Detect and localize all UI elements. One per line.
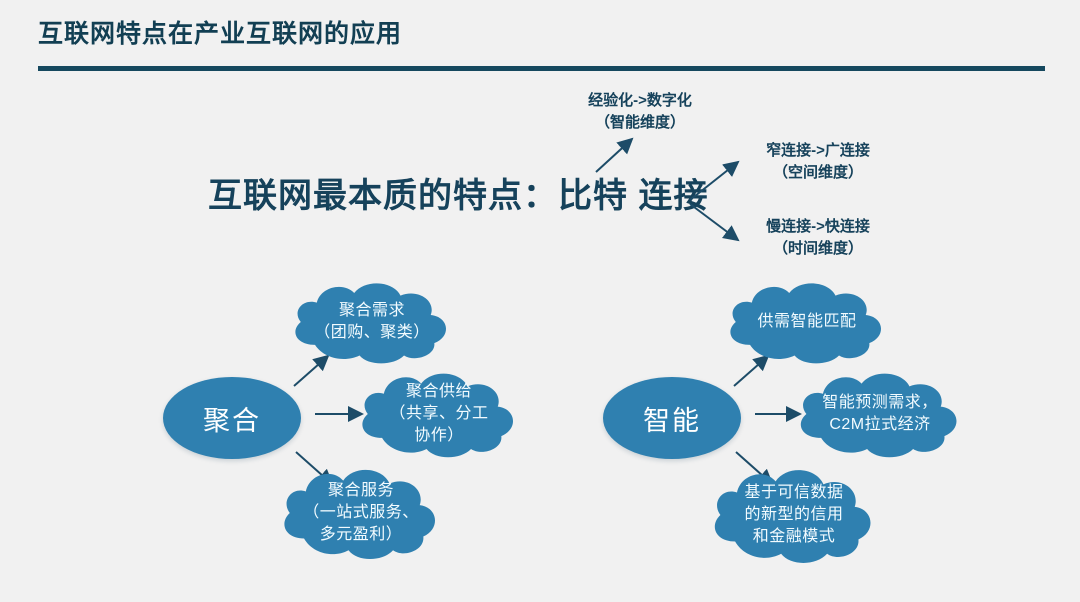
title-divider [38,66,1045,71]
annotation-intelligence-line2: （智能维度） [540,112,740,134]
cloud-line: 的新型的信用 [744,504,843,526]
annotation-time-dimension: 慢连接->快连接 （时间维度） [718,216,918,260]
cloud-line: 聚合服务 [328,480,394,502]
cloud-line: （团购、聚类） [314,322,430,344]
annotation-intelligence-line1: 经验化->数字化 [540,90,740,112]
hub-node-intelligent[interactable]: 智能 [603,377,741,459]
cloud-line: 供需智能匹配 [757,311,856,333]
cloud-line: 和金融模式 [753,526,836,548]
cloud-intelligent-matching-label: 供需智能匹配 [718,278,896,366]
cloud-intelligent-credit[interactable]: 基于可信数据 的新型的信用 和金融模式 [702,464,886,566]
cloud-line: 聚合需求 [339,300,405,322]
headline-text: 互联网最本质的特点：比特 连接 [208,168,708,217]
cloud-intelligent-forecast[interactable]: 智能预测需求， C2M拉式经济 [788,368,972,460]
annotation-time-line2: （时间维度） [718,238,918,260]
cloud-line: （共享、分工 [389,403,488,425]
annotation-space-dimension: 窄连接->广连接 （空间维度） [718,140,918,184]
cloud-aggregate-demand-label: 聚合需求 （团购、聚类） [283,278,461,366]
hub-node-intelligent-label: 智能 [643,399,701,438]
cloud-intelligent-forecast-label: 智能预测需求， C2M拉式经济 [788,368,972,460]
cloud-intelligent-credit-label: 基于可信数据 的新型的信用 和金融模式 [702,464,886,566]
cloud-line: 多元盈利） [320,524,403,546]
cloud-line: 聚合供给 [406,381,472,403]
cloud-aggregate-demand[interactable]: 聚合需求 （团购、聚类） [283,278,461,366]
cloud-line: C2M拉式经济 [829,414,930,436]
cloud-aggregate-service[interactable]: 聚合服务 （一站式服务、 多元盈利） [272,464,450,562]
annotation-space-line1: 窄连接->广连接 [718,140,918,162]
cloud-aggregate-supply-label: 聚合供给 （共享、分工 协作） [350,368,528,460]
slide-canvas: 互联网特点在产业互联网的应用 互联网最本质的特点：比特 连接 经验化->数字化 … [0,0,1080,602]
cloud-line: 智能预测需求， [822,392,938,414]
hub-node-aggregate-label: 聚合 [203,399,261,438]
page-title: 互联网特点在产业互联网的应用 [38,14,402,50]
annotation-intelligence-dimension: 经验化->数字化 （智能维度） [540,90,740,134]
cloud-line: 基于可信数据 [744,482,843,504]
cloud-line: 协作） [414,425,464,447]
annotation-time-line1: 慢连接->快连接 [718,216,918,238]
cloud-line: （一站式服务、 [303,502,419,524]
cloud-intelligent-matching[interactable]: 供需智能匹配 [718,278,896,366]
annotation-space-line2: （空间维度） [718,162,918,184]
hub-node-aggregate[interactable]: 聚合 [163,377,301,459]
cloud-aggregate-service-label: 聚合服务 （一站式服务、 多元盈利） [272,464,450,562]
cloud-aggregate-supply[interactable]: 聚合供给 （共享、分工 协作） [350,368,528,460]
